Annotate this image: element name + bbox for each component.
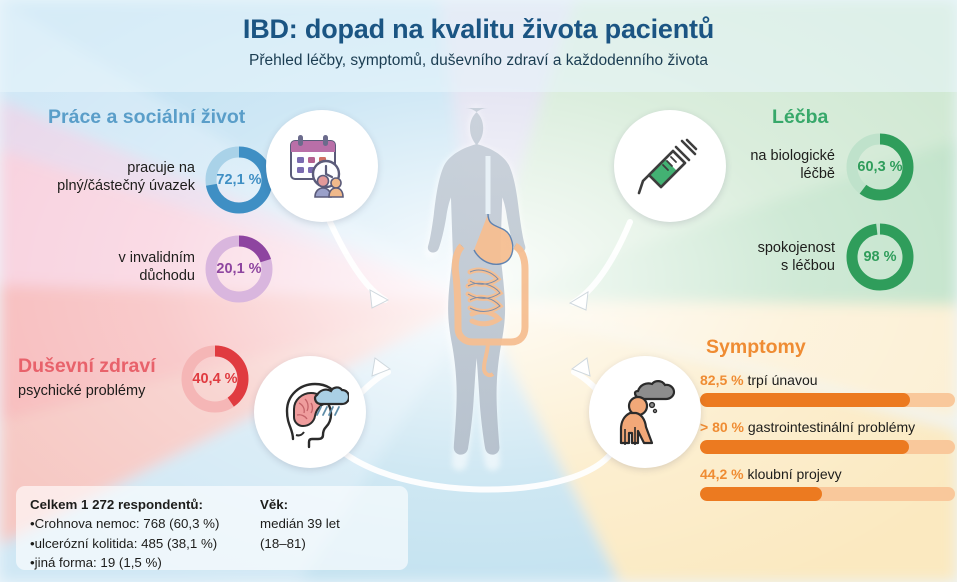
- footer-age-range: (18–81): [260, 534, 400, 553]
- symptom-row-fatigue: 82,5 % trpí únavou: [700, 372, 955, 407]
- symptom-1-fill: [700, 440, 909, 454]
- symptom-0-value: 82,5 %: [700, 372, 744, 388]
- symptom-bars: 82,5 % trpí únavou > 80 % gastrointestin…: [700, 372, 955, 513]
- symptom-0-track: [700, 393, 955, 407]
- section-heading-symptoms: Symptomy: [706, 336, 806, 359]
- work-donut-employment: 72,1 %: [202, 143, 276, 217]
- footer-age-title: Věk:: [260, 495, 400, 514]
- section-heading-work: Práce a sociální život: [48, 106, 245, 129]
- head-brain-raincloud-icon: [254, 356, 366, 468]
- human-body-illustration: [388, 96, 588, 526]
- footer-diagnosis-list: Crohnova nemoc: 768 (60,3 %) ulcerózní k…: [30, 514, 260, 572]
- symptom-0-label: trpí únavou: [744, 372, 818, 388]
- list-item: jiná forma: 19 (1,5 %): [30, 553, 260, 572]
- calendar-clock-people-icon: [266, 110, 378, 222]
- work-metric-1-label: v invalidním důchodu: [10, 250, 195, 285]
- symptom-2-fill: [700, 487, 822, 501]
- symptom-2-label: kloubní projevy: [744, 466, 842, 482]
- footer-column-total: Celkem 1 272 respondentů: Crohnova nemoc…: [30, 495, 260, 570]
- mental-donut-psych-problems: 40,4 %: [178, 342, 252, 416]
- symptom-2-value: 44,2 %: [700, 466, 744, 482]
- mental-donut-value: 40,4 %: [178, 342, 252, 416]
- work-donut-disability-pension: 20,1 %: [202, 232, 276, 306]
- work-donut-employment-value: 72,1 %: [202, 143, 276, 217]
- symptom-row-gastrointestinal: > 80 % gastrointestinální problémy: [700, 419, 955, 454]
- symptom-1-label: gastrointestinální problémy: [744, 419, 915, 435]
- treatment-donut-biologic-value: 60,3 %: [843, 130, 917, 204]
- section-heading-mental: Duševní zdraví: [18, 355, 156, 378]
- treatment-metric-1-label: spokojenost s léčbou: [690, 240, 835, 275]
- symptom-row-joint: 44,2 % kloubní projevy: [700, 466, 955, 501]
- list-item: Crohnova nemoc: 768 (60,3 %): [30, 514, 260, 533]
- footer-age-median: medián 39 let: [260, 514, 400, 533]
- treatment-donut-satisfaction-value: 98 %: [843, 220, 917, 294]
- treatment-donut-satisfaction: 98 %: [843, 220, 917, 294]
- symptom-0-fill: [700, 393, 910, 407]
- treatment-donut-biologic: 60,3 %: [843, 130, 917, 204]
- section-heading-treatment: Léčba: [772, 106, 828, 129]
- infographic-canvas: IBD: dopad na kvalitu života pacientů Př…: [0, 0, 957, 582]
- list-item: ulcerózní kolitida: 485 (38,1 %): [30, 534, 260, 553]
- syringe-icon: [614, 110, 726, 222]
- footer-total-title: Celkem 1 272 respondentů:: [30, 495, 260, 514]
- work-metric-0-label: pracuje na plný/částečný úvazek: [10, 160, 195, 195]
- symptom-1-track: [700, 440, 955, 454]
- symptom-1-value: > 80 %: [700, 419, 744, 435]
- symptom-2-track: [700, 487, 955, 501]
- footer-column-age: Věk: medián 39 let (18–81): [260, 495, 400, 570]
- work-donut-disability-value: 20,1 %: [202, 232, 276, 306]
- footer-respondents-card: Celkem 1 272 respondentů: Crohnova nemoc…: [16, 486, 408, 570]
- tired-person-cloud-icon: [589, 356, 701, 468]
